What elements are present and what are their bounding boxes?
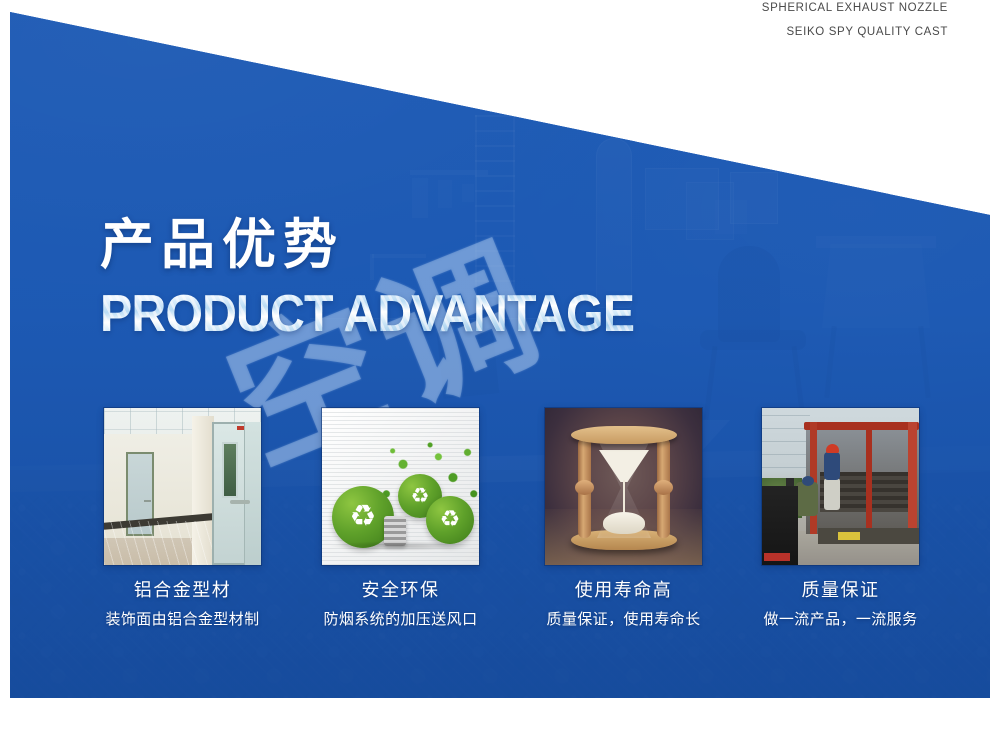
- worker-icon: [824, 452, 840, 480]
- feature-thumbnail[interactable]: ♻ ♻ ♻: [322, 408, 479, 565]
- hourglass-top-icon: [571, 426, 677, 444]
- feature-card[interactable]: 质量保证 做一流产品，一流服务: [762, 408, 919, 627]
- feature-card[interactable]: 使用寿命高 质量保证，使用寿命长: [545, 408, 702, 627]
- door-window: [222, 442, 238, 498]
- feature-thumbnail[interactable]: [762, 408, 919, 565]
- warning-plate-icon: [838, 532, 860, 540]
- floor-tiles: [104, 521, 212, 565]
- hourglass-sand-stream: [623, 480, 625, 514]
- feature-title: 质量保证: [762, 582, 919, 600]
- worker-icon: [796, 482, 818, 516]
- truck-rail-post: [908, 422, 917, 534]
- feature-subtitle: 做一流产品，一流服务: [762, 612, 919, 627]
- truck-loading-photo: [762, 408, 919, 565]
- worker-icon: [824, 478, 840, 510]
- recycle-icon: ♻: [411, 486, 430, 507]
- worker-icon: [802, 476, 814, 486]
- hourglass-knob-icon: [654, 480, 673, 495]
- hourglass-photo: [545, 408, 702, 565]
- feature-subtitle: 防烟系统的加压送风口: [322, 612, 479, 627]
- forklift-marker: [764, 553, 790, 561]
- green-eco-bulbs-photo: ♻ ♻ ♻: [322, 408, 479, 565]
- light-bulb-icon: ♻: [426, 496, 474, 544]
- hourglass-sand-bottom: [603, 512, 645, 534]
- recycle-icon: ♻: [440, 509, 461, 532]
- safety-helmet-icon: [826, 444, 839, 453]
- feature-title: 安全环保: [322, 582, 479, 600]
- feature-card-list: 铝合金型材 装饰面由铝合金型材制 ♻ ♻ ♻ 安全环保 防烟系统的加压送风口: [0, 0, 1000, 735]
- feature-card[interactable]: ♻ ♻ ♻ 安全环保 防烟系统的加压送风口: [322, 408, 479, 627]
- feature-subtitle: 质量保证，使用寿命长: [545, 612, 702, 627]
- door-icon: [244, 422, 261, 565]
- feature-title: 使用寿命高: [545, 582, 702, 600]
- truck-rail: [804, 422, 919, 430]
- hourglass-knob-icon: [575, 480, 594, 495]
- hourglass-sand-top: [599, 450, 649, 482]
- feature-subtitle: 装饰面由铝合金型材制: [104, 612, 261, 627]
- truck-rail-post: [866, 422, 872, 534]
- door-handle-icon: [230, 500, 250, 504]
- corridor-doors-photo: [104, 408, 261, 565]
- feature-title: 铝合金型材: [104, 582, 261, 600]
- feature-card[interactable]: 铝合金型材 装饰面由铝合金型材制: [104, 408, 261, 627]
- feature-thumbnail[interactable]: [104, 408, 261, 565]
- drop-shadow: [328, 541, 474, 551]
- feature-thumbnail[interactable]: [545, 408, 702, 565]
- indicator-light-icon: [237, 426, 244, 430]
- promo-banner: SPHERICAL EXHAUST NOZZLE SEIKO SPY QUALI…: [0, 0, 1000, 735]
- recycle-icon: ♻: [350, 502, 377, 532]
- truck-bumper: [818, 528, 919, 544]
